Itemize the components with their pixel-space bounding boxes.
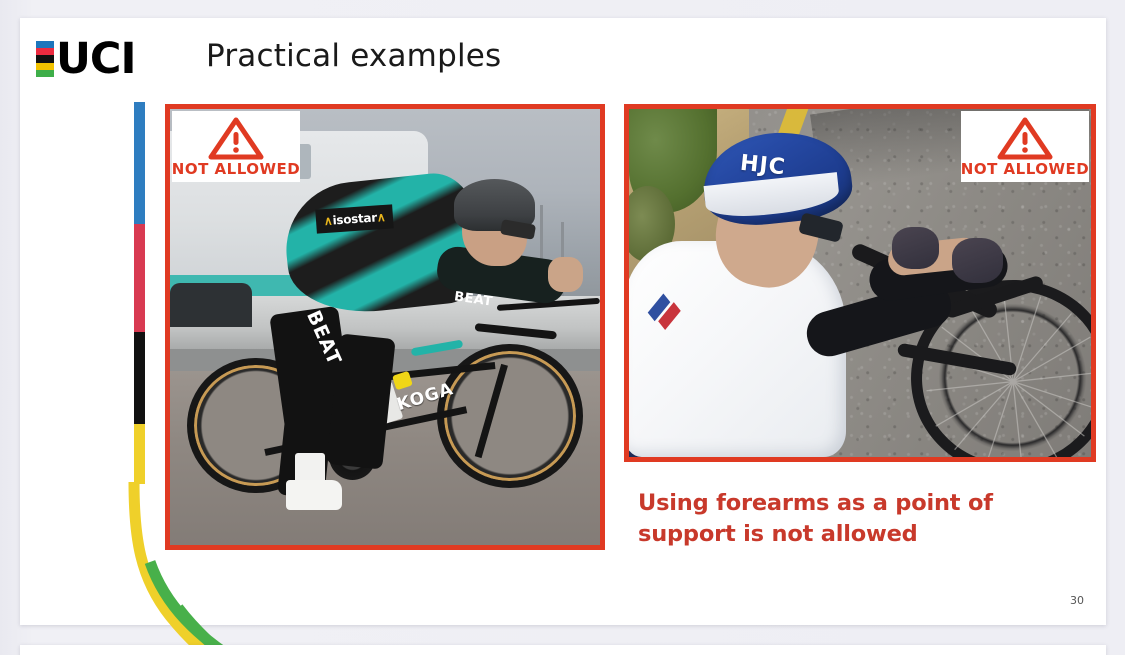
screenshot-viewport: UCI Practical examples <box>0 0 1125 655</box>
helmet-brand-hjc-text: HJC <box>739 150 787 180</box>
rider-hand <box>548 257 582 292</box>
photo-time-trial-rider[interactable]: KOGA ∧ isostar ∧ BEAT BEAT <box>165 104 605 550</box>
parked-car <box>170 283 252 327</box>
rider-shoe <box>286 480 342 511</box>
slide-page-number: 30 <box>1070 594 1084 607</box>
rail-segment-red <box>134 224 145 332</box>
not-allowed-label-right: NOT ALLOWED <box>961 160 1089 178</box>
uci-logo: UCI <box>36 36 135 82</box>
warning-triangle-icon <box>208 116 264 160</box>
cycling-glove-left <box>892 227 938 269</box>
not-allowed-badge-left: NOT ALLOWED <box>172 111 300 182</box>
rail-segment-yellow <box>134 424 145 484</box>
uci-rainbow-stripes-icon <box>36 41 54 77</box>
next-slide-preview[interactable] <box>20 645 1106 655</box>
photo-overhead-rider[interactable]: HJC NOT ALLOWED <box>624 104 1096 462</box>
photo-left-content: KOGA ∧ isostar ∧ BEAT BEAT <box>170 109 600 545</box>
cycling-glove-right <box>952 238 1003 283</box>
not-allowed-label-left: NOT ALLOWED <box>172 160 300 178</box>
presentation-slide[interactable]: UCI Practical examples <box>20 18 1106 625</box>
uci-wordmark: UCI <box>56 41 135 77</box>
photo-right-content: HJC NOT ALLOWED <box>629 109 1091 457</box>
warning-triangle-icon <box>997 116 1053 160</box>
slide-title: Practical examples <box>206 38 501 74</box>
rail-segment-blue <box>134 102 145 224</box>
isostar-bracket-right: ∧ <box>376 210 386 225</box>
rail-segment-black <box>134 332 145 424</box>
isostar-text: isostar <box>332 211 377 228</box>
slide-caption: Using forearms as a point of support is … <box>638 488 1088 550</box>
not-allowed-badge-right: NOT ALLOWED <box>961 111 1089 182</box>
jersey-chevron-graphic <box>638 283 703 335</box>
